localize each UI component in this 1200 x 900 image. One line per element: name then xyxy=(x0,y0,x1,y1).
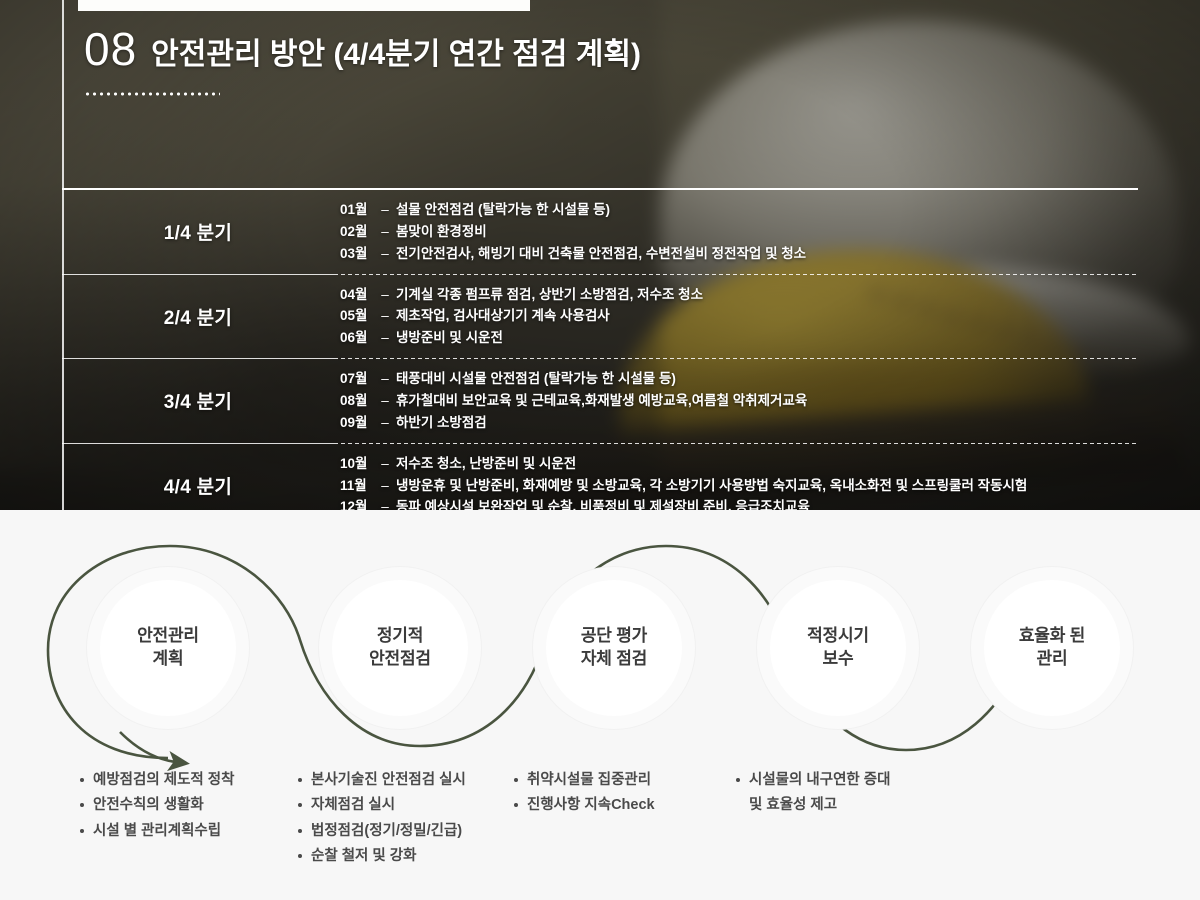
schedule-item-description: 냉방준비 및 시운전 xyxy=(396,327,503,349)
schedule-item-dash: – xyxy=(374,453,396,475)
bullet-item: 안전수칙의 생활화 xyxy=(78,793,234,818)
schedule-item: 12월–동파 예상시설 보완작업 및 순찰, 비품정비 및 제설장비 준비, 응… xyxy=(340,496,1138,510)
flow-node-2[interactable]: 정기적안전점검 xyxy=(332,580,468,716)
flow-node-label: 적정시기보수 xyxy=(807,625,869,671)
schedule-item-dash: – xyxy=(374,305,396,327)
flow-node-line1: 정기적 xyxy=(377,626,423,645)
schedule-item-month: 02월 xyxy=(340,221,374,243)
schedule-item-month: 05월 xyxy=(340,305,374,327)
flow-node-label: 안전관리계획 xyxy=(137,625,199,671)
schedule-item-dash: – xyxy=(374,368,396,390)
schedule-item-dash: – xyxy=(374,496,396,510)
bullet-item: 시설물의 내구연한 증대 xyxy=(734,768,890,793)
schedule-item: 06월–냉방준비 및 시운전 xyxy=(340,327,1138,349)
flow-node-line2: 보수 xyxy=(823,649,854,668)
page-title-row: 08 안전관리 방안 (4/4분기 연간 점검 계획) xyxy=(84,26,641,72)
flow-bullet-lists: 예방점검의 제도적 정착안전수칙의 생활화시설 별 관리계획수립본사기술진 안전… xyxy=(0,768,1200,900)
schedule-item: 01월–설물 안전점검 (탈락가능 한 시설물 등) xyxy=(340,199,1138,221)
schedule-item: 03월–전기안전검사, 해빙기 대비 건축물 안전점검, 수변전설비 정전작업 … xyxy=(340,243,1138,265)
schedule-item-month: 03월 xyxy=(340,243,374,265)
flow-node-5[interactable]: 효율화 된관리 xyxy=(984,580,1120,716)
schedule-item-description: 냉방운휴 및 난방준비, 화재예방 및 소방교육, 각 소방기기 사용방법 숙지… xyxy=(396,475,1027,497)
schedule-item-description: 제초작업, 검사대상기기 계속 사용검사 xyxy=(396,305,610,327)
schedule-item-description: 전기안전검사, 해빙기 대비 건축물 안전점검, 수변전설비 정전작업 및 청소 xyxy=(396,243,806,265)
schedule-item-dash: – xyxy=(374,327,396,349)
schedule-item: 08월–휴가철대비 보안교육 및 근테교육,화재발생 예방교육,여름철 악취제거… xyxy=(340,390,1138,412)
schedule-item-description: 저수조 청소, 난방준비 및 시운전 xyxy=(396,453,576,475)
bullet-item: 취약시설물 집중관리 xyxy=(512,768,655,793)
flow-node-line2: 관리 xyxy=(1037,649,1068,668)
schedule-item-month: 12월 xyxy=(340,496,374,510)
flow-node-line2: 자체 점검 xyxy=(581,649,647,668)
bullet-item: 본사기술진 안전점검 실시 xyxy=(296,768,466,793)
flow-node-1[interactable]: 안전관리계획 xyxy=(100,580,236,716)
schedule-item: 05월–제초작업, 검사대상기기 계속 사용검사 xyxy=(340,305,1138,327)
flow-node-line1: 공단 평가 xyxy=(581,626,647,645)
flow-node-label: 정기적안전점검 xyxy=(369,625,431,671)
schedule-item-dash: – xyxy=(374,221,396,243)
quarter-items: 07월–태풍대비 시설물 안전점검 (탈락가능 한 시설물 등)08월–휴가철대… xyxy=(334,359,1138,443)
bullet-item: 법정점검(정기/정밀/긴급) xyxy=(296,819,466,844)
schedule-item-month: 06월 xyxy=(340,327,374,349)
quarter-label: 4/4 분기 xyxy=(62,444,334,510)
quarter-label: 1/4 분기 xyxy=(62,190,334,274)
schedule-item-month: 10월 xyxy=(340,453,374,475)
section-number: 08 xyxy=(84,26,137,72)
flow-node-list: 안전관리계획정기적안전점검공단 평가자체 점검적정시기보수효율화 된관리 xyxy=(0,510,1200,770)
process-flow-section: 안전관리계획정기적안전점검공단 평가자체 점검적정시기보수효율화 된관리 예방점… xyxy=(0,510,1200,900)
flow-node-4[interactable]: 적정시기보수 xyxy=(770,580,906,716)
schedule-item-description: 동파 예상시설 보완작업 및 순찰, 비품정비 및 제설장비 준비, 응급조치교… xyxy=(396,496,810,510)
top-white-bar xyxy=(78,0,530,11)
flow-node-line1: 안전관리 xyxy=(137,626,199,645)
bullet-item: 진행사항 지속Check xyxy=(512,793,655,818)
schedule-item-month: 07월 xyxy=(340,368,374,390)
schedule-item-month: 09월 xyxy=(340,412,374,434)
bullet-group-1: 예방점검의 제도적 정착안전수칙의 생활화시설 별 관리계획수립 xyxy=(78,768,234,844)
bullet-item: 및 효율성 제고 xyxy=(734,793,890,818)
schedule-item: 07월–태풍대비 시설물 안전점검 (탈락가능 한 시설물 등) xyxy=(340,368,1138,390)
flow-node-line2: 계획 xyxy=(153,649,184,668)
schedule-item-description: 휴가철대비 보안교육 및 근테교육,화재발생 예방교육,여름철 악취제거교육 xyxy=(396,390,807,412)
table-row: 3/4 분기07월–태풍대비 시설물 안전점검 (탈락가능 한 시설물 등)08… xyxy=(62,359,1138,443)
bullet-group-4: 시설물의 내구연한 증대및 효율성 제고 xyxy=(734,768,890,819)
schedule-item: 02월–봄맞이 환경정비 xyxy=(340,221,1138,243)
bullet-group-3: 취약시설물 집중관리진행사항 지속Check xyxy=(512,768,655,819)
schedule-item-description: 설물 안전점검 (탈락가능 한 시설물 등) xyxy=(396,199,610,221)
quarter-items: 04월–기계실 각종 펌프류 점검, 상반기 소방점검, 저수조 청소05월–제… xyxy=(334,275,1138,359)
quarter-items: 10월–저수조 청소, 난방준비 및 시운전11월–냉방운휴 및 난방준비, 화… xyxy=(334,444,1138,510)
table-row: 1/4 분기01월–설물 안전점검 (탈락가능 한 시설물 등)02월–봄맞이 … xyxy=(62,190,1138,274)
dotted-underline xyxy=(84,92,220,96)
schedule-item: 09월–하반기 소방점검 xyxy=(340,412,1138,434)
schedule-item-dash: – xyxy=(374,284,396,306)
schedule-item-month: 11월 xyxy=(340,475,374,497)
schedule-item-description: 기계실 각종 펌프류 점검, 상반기 소방점검, 저수조 청소 xyxy=(396,284,703,306)
schedule-item-description: 하반기 소방점검 xyxy=(396,412,487,434)
schedule-item-month: 08월 xyxy=(340,390,374,412)
slide-root: 08 안전관리 방안 (4/4분기 연간 점검 계획) 1/4 분기01월–설물… xyxy=(0,0,1200,900)
schedule-item: 04월–기계실 각종 펌프류 점검, 상반기 소방점검, 저수조 청소 xyxy=(340,284,1138,306)
hero-section: 08 안전관리 방안 (4/4분기 연간 점검 계획) 1/4 분기01월–설물… xyxy=(0,0,1200,510)
schedule-item-month: 01월 xyxy=(340,199,374,221)
bullet-list: 시설물의 내구연한 증대및 효율성 제고 xyxy=(734,768,890,819)
flow-node-line1: 적정시기 xyxy=(807,626,869,645)
flow-node-3[interactable]: 공단 평가자체 점검 xyxy=(546,580,682,716)
bullet-item: 순찰 철저 및 강화 xyxy=(296,844,466,869)
schedule-item-dash: – xyxy=(374,199,396,221)
quarter-items: 01월–설물 안전점검 (탈락가능 한 시설물 등)02월–봄맞이 환경정비03… xyxy=(334,190,1138,274)
schedule-item-dash: – xyxy=(374,243,396,265)
schedule-table: 1/4 분기01월–설물 안전점검 (탈락가능 한 시설물 등)02월–봄맞이 … xyxy=(62,188,1138,510)
schedule-item: 11월–냉방운휴 및 난방준비, 화재예방 및 소방교육, 각 소방기기 사용방… xyxy=(340,475,1138,497)
bullet-list: 취약시설물 집중관리진행사항 지속Check xyxy=(512,768,655,819)
flow-node-label: 공단 평가자체 점검 xyxy=(581,625,647,671)
schedule-item-month: 04월 xyxy=(340,284,374,306)
schedule-item-dash: – xyxy=(374,390,396,412)
bullet-list: 본사기술진 안전점검 실시자체점검 실시법정점검(정기/정밀/긴급)순찰 철저 … xyxy=(296,768,466,870)
schedule-item-dash: – xyxy=(374,475,396,497)
bullet-item: 시설 별 관리계획수립 xyxy=(78,819,234,844)
schedule-item-description: 봄맞이 환경정비 xyxy=(396,221,487,243)
table-row: 2/4 분기04월–기계실 각종 펌프류 점검, 상반기 소방점검, 저수조 청… xyxy=(62,275,1138,359)
quarter-label: 3/4 분기 xyxy=(62,359,334,443)
table-row: 4/4 분기10월–저수조 청소, 난방준비 및 시운전11월–냉방운휴 및 난… xyxy=(62,444,1138,510)
flow-node-line2: 안전점검 xyxy=(369,649,431,668)
flow-node-label: 효율화 된관리 xyxy=(1019,625,1085,671)
bullet-item: 자체점검 실시 xyxy=(296,793,466,818)
bullet-list: 예방점검의 제도적 정착안전수칙의 생활화시설 별 관리계획수립 xyxy=(78,768,234,844)
schedule-item-description: 태풍대비 시설물 안전점검 (탈락가능 한 시설물 등) xyxy=(396,368,676,390)
schedule-item: 10월–저수조 청소, 난방준비 및 시운전 xyxy=(340,453,1138,475)
bullet-item: 예방점검의 제도적 정착 xyxy=(78,768,234,793)
bullet-group-2: 본사기술진 안전점검 실시자체점검 실시법정점검(정기/정밀/긴급)순찰 철저 … xyxy=(296,768,466,870)
page-title: 안전관리 방안 (4/4분기 연간 점검 계획) xyxy=(151,39,641,73)
quarter-label: 2/4 분기 xyxy=(62,275,334,359)
schedule-item-dash: – xyxy=(374,412,396,434)
flow-node-line1: 효율화 된 xyxy=(1019,626,1085,645)
